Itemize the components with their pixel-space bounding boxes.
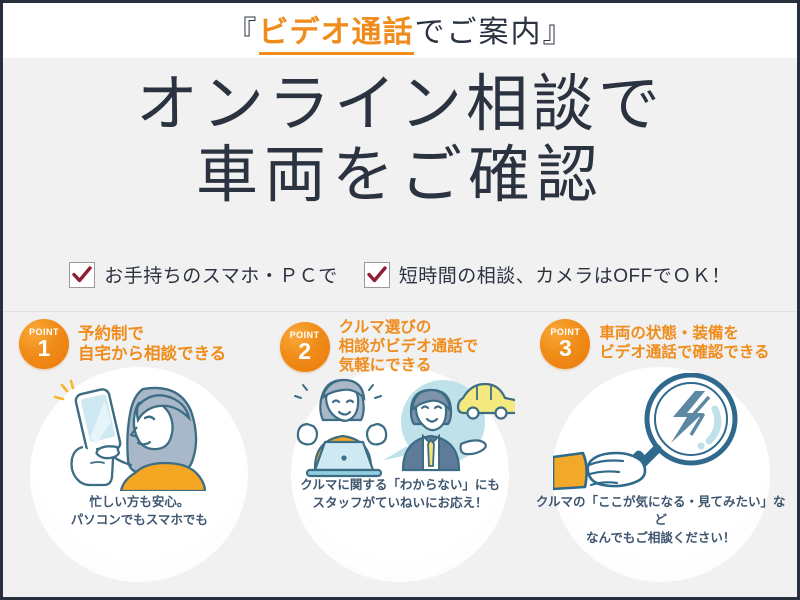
point-caption-1: 忙しい方も安心。 パソコンでもスマホでも — [9, 493, 270, 529]
badge-number: 3 — [559, 337, 572, 360]
page-title: オンライン相談で 車両をご確認 — [3, 75, 797, 207]
header-title: 『 ビデオ通話 でご案内 』 — [227, 7, 574, 55]
point-header-2: POINT 2 クルマ選びの 相談がビデオ通話で 気軽にできる — [270, 319, 531, 376]
point-badge-2: POINT 2 — [280, 322, 330, 372]
check-label-2: 短時間の相談、カメラはOFFでＯＫ！ — [399, 261, 731, 288]
check-icon — [69, 262, 95, 288]
point-card-3: POINT 3 車両の状態・装備を ビデオ通話で確認できる — [530, 319, 791, 569]
check-label-1: お手持ちのスマホ・ＰＣで — [104, 261, 337, 288]
woman-at-laptop-and-staff-with-car-illustration — [270, 374, 531, 474]
open-bracket: 『 — [227, 7, 258, 51]
close-bracket: 』 — [543, 7, 574, 51]
point-title-3: 車両の状態・装備を ビデオ通話で確認できる — [599, 325, 769, 363]
points-section: POINT 1 予約制で 自宅から相談できる — [3, 319, 797, 569]
point-badge-3: POINT 3 — [540, 319, 590, 369]
point-caption-3: クルマの「ここが気になる・見てみたい」など なんでもご相談ください！ — [530, 493, 791, 547]
header-tail: でご案内 — [415, 7, 543, 51]
point-card-1: POINT 1 予約制で 自宅から相談できる — [9, 319, 270, 569]
section-divider — [3, 311, 797, 312]
hand-holding-magnifying-glass-illustration — [530, 373, 791, 491]
check-item-2: 短時間の相談、カメラはOFFでＯＫ！ — [364, 261, 731, 288]
badge-number: 1 — [38, 337, 51, 360]
point-card-2: POINT 2 クルマ選びの 相談がビデオ通話で 気軽にできる — [270, 319, 531, 569]
check-icon — [364, 262, 390, 288]
promo-banner: 『 ビデオ通話 でご案内 』 オンライン相談で 車両をご確認 お手持ちのスマホ・… — [0, 0, 800, 600]
point-header-3: POINT 3 車両の状態・装備を ビデオ通話で確認できる — [530, 319, 791, 369]
headline-line-2: 車両をご確認 — [3, 146, 797, 207]
header-highlight: ビデオ通話 — [259, 7, 414, 55]
check-item-1: お手持ちのスマホ・ＰＣで — [69, 261, 337, 288]
point-title-2: クルマ選びの 相談がビデオ通話で 気軽にできる — [339, 319, 479, 376]
woman-with-smartphone-illustration — [9, 373, 270, 491]
point-header-1: POINT 1 予約制で 自宅から相談できる — [9, 319, 270, 369]
badge-number: 2 — [298, 340, 311, 363]
point-caption-2: クルマに関する「わからない」にも スタッフがていねいにお応え！ — [270, 476, 531, 512]
header-strip: 『 ビデオ通話 でご案内 』 — [3, 3, 797, 58]
point-badge-1: POINT 1 — [19, 319, 69, 369]
headline-line-1: オンライン相談で — [3, 75, 797, 136]
check-row: お手持ちのスマホ・ＰＣで 短時間の相談、カメラはOFFでＯＫ！ — [3, 261, 797, 288]
point-title-1: 予約制で 自宅から相談できる — [78, 324, 226, 364]
